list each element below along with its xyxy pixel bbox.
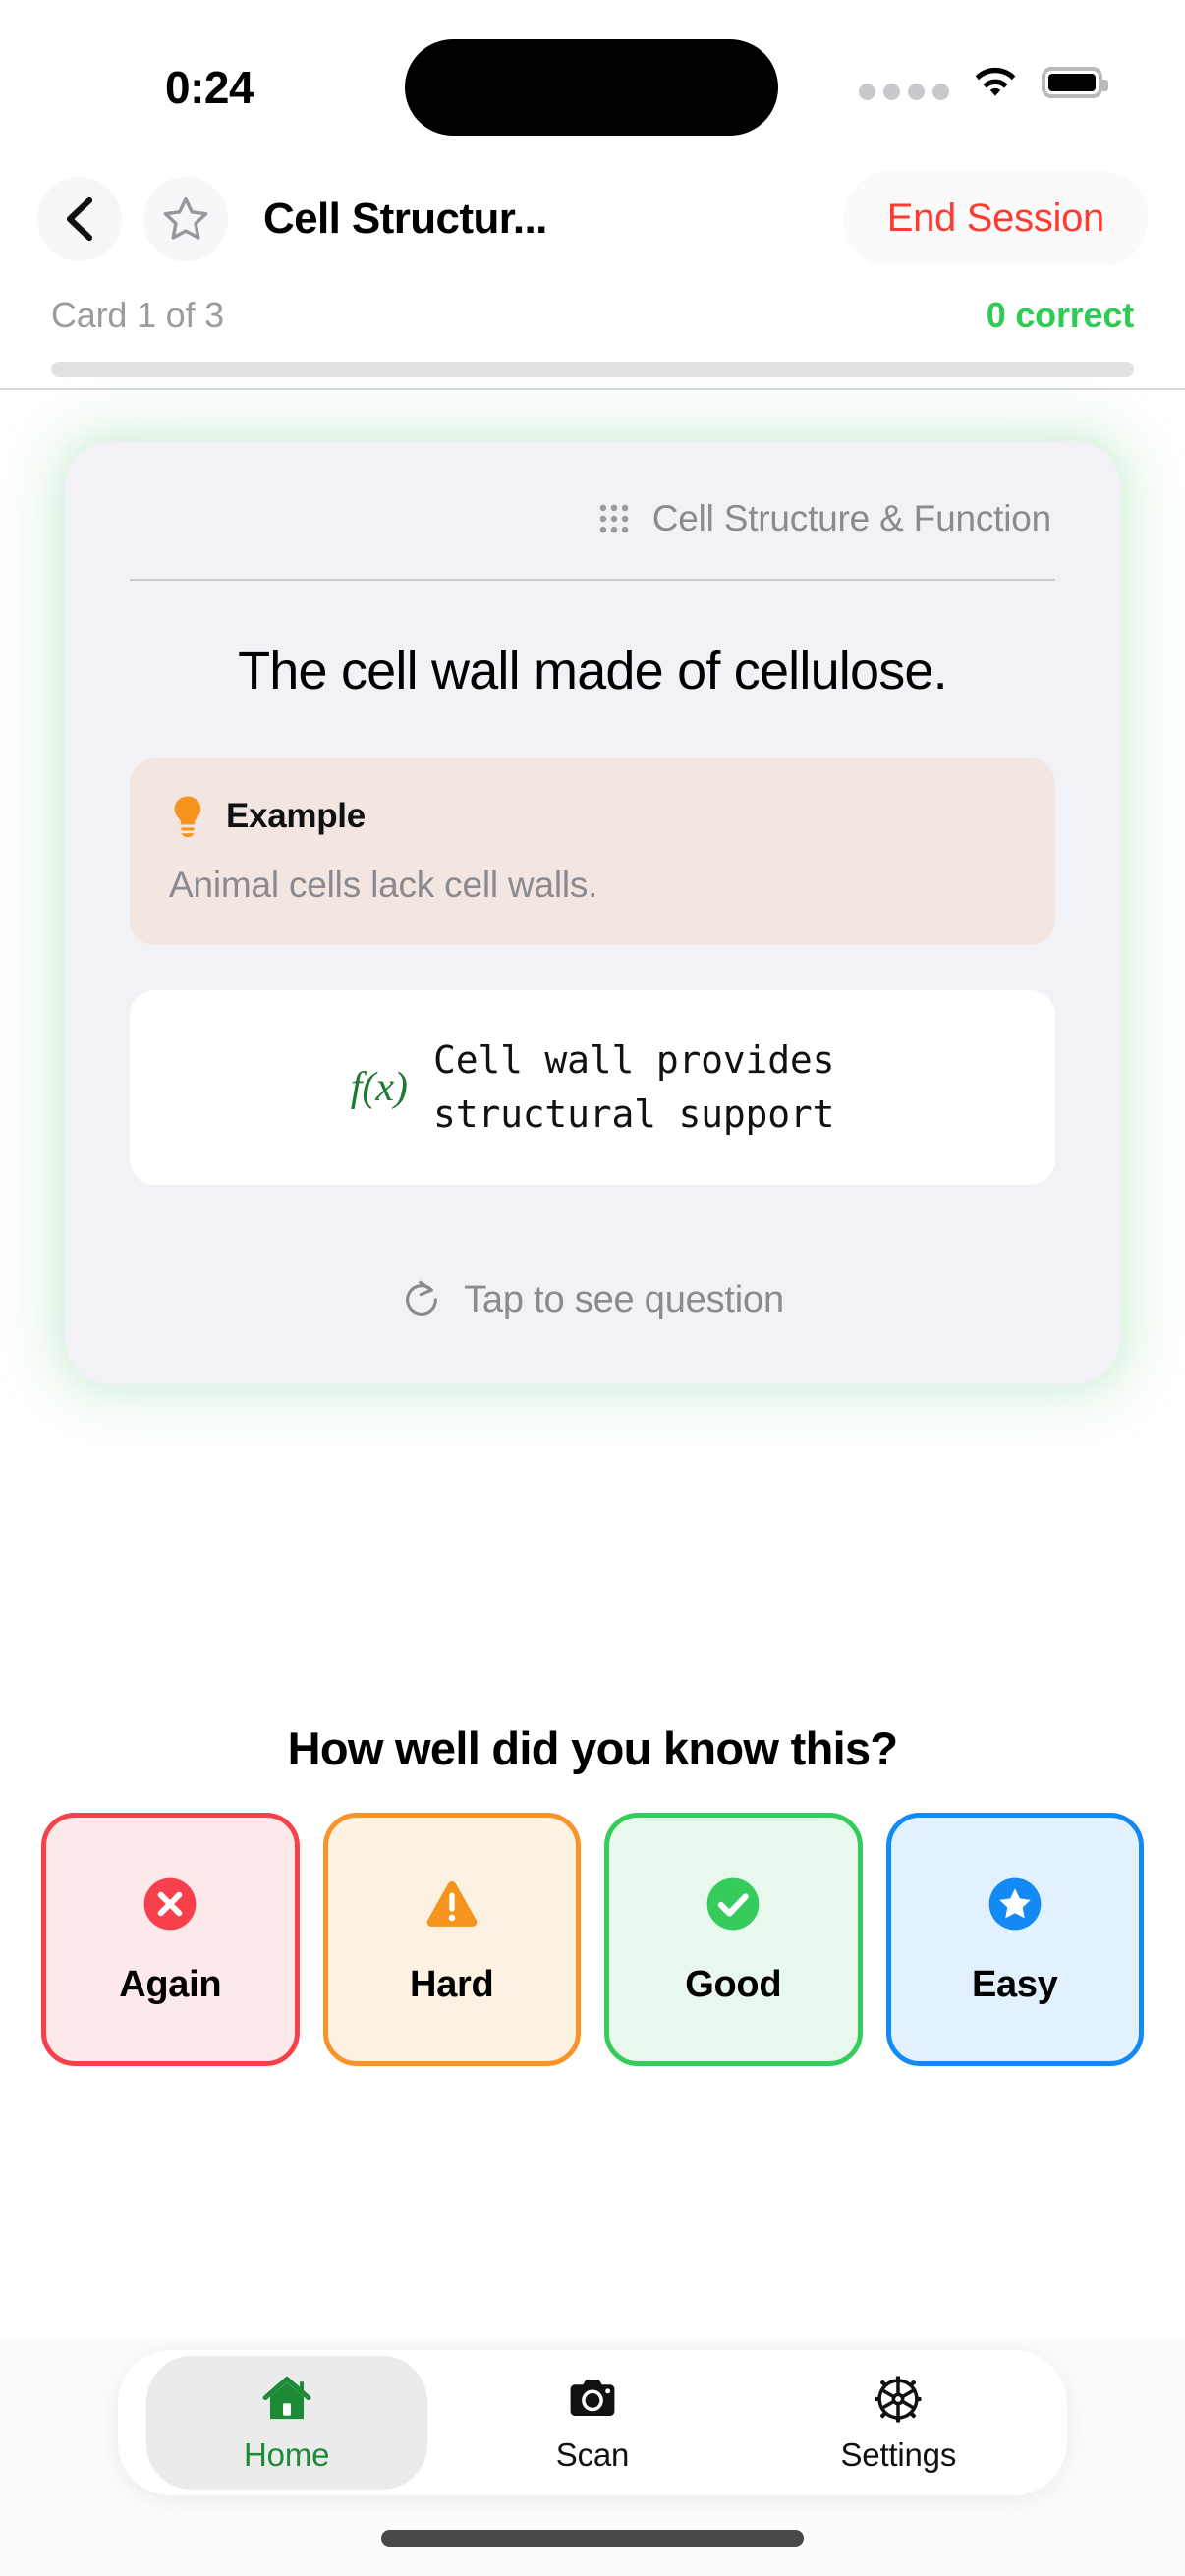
rating-button-again[interactable]: Again <box>41 1813 300 2066</box>
rating-button-easy[interactable]: Easy <box>886 1813 1145 2066</box>
favorite-button[interactable] <box>143 177 228 261</box>
formula-box: f(x) Cell wall provides structural suppo… <box>130 990 1055 1185</box>
x-circle-icon <box>140 1874 200 1934</box>
camera-icon <box>565 2372 620 2427</box>
page-title: Cell Structur... <box>263 195 822 244</box>
status-time: 0:24 <box>165 61 254 114</box>
rating-label-hard: Hard <box>410 1964 493 2006</box>
progress-labels: Card 1 of 3 0 correct <box>51 285 1134 336</box>
content-area: Cell Structure & Function The cell wall … <box>0 390 1185 2340</box>
example-box: Example Animal cells lack cell walls. <box>130 758 1055 945</box>
battery-icon <box>1042 67 1102 98</box>
example-title: Example <box>226 797 366 836</box>
rotate-ccw-icon <box>401 1279 442 1320</box>
wifi-icon <box>973 65 1018 100</box>
card-topic-row: Cell Structure & Function <box>130 498 1055 539</box>
rating-button-hard[interactable]: Hard <box>323 1813 582 2066</box>
star-circle-icon <box>985 1874 1045 1934</box>
rating-label-easy: Easy <box>972 1964 1058 2006</box>
grid-dots-icon <box>595 500 633 537</box>
tab-label-home: Home <box>244 2436 329 2474</box>
status-bar: 0:24 <box>0 0 1185 152</box>
rating-label-again: Again <box>119 1964 221 2006</box>
formula-label: f(x) <box>351 1064 408 1111</box>
tab-settings[interactable]: Settings <box>758 2356 1039 2490</box>
home-indicator <box>381 2530 804 2547</box>
tap-hint[interactable]: Tap to see question <box>130 1279 1055 1321</box>
signal-dots-icon <box>859 65 949 100</box>
tab-home[interactable]: Home <box>146 2356 427 2490</box>
dynamic-island <box>405 39 778 136</box>
rating-prompt: How well did you know this? <box>0 1721 1185 1775</box>
end-session-button[interactable]: End Session <box>844 171 1148 266</box>
gear-icon <box>871 2372 926 2427</box>
card-counter: Card 1 of 3 <box>51 295 224 336</box>
card-answer-text: The cell wall made of cellulose. <box>130 640 1055 703</box>
tab-label-settings: Settings <box>840 2436 956 2474</box>
status-indicators <box>859 65 1102 100</box>
home-icon <box>259 2372 314 2427</box>
warning-triangle-icon <box>422 1874 482 1934</box>
flashcard[interactable]: Cell Structure & Function The cell wall … <box>65 441 1120 1384</box>
lightbulb-icon <box>169 794 206 839</box>
correct-counter: 0 correct <box>987 295 1134 336</box>
example-text: Animal cells lack cell walls. <box>169 865 1016 906</box>
phone-screen: 0:24 Cell Structur... End Sess <box>0 0 1185 2576</box>
example-header: Example <box>169 794 1016 839</box>
check-circle-icon <box>703 1874 763 1934</box>
tab-scan[interactable]: Scan <box>452 2356 733 2490</box>
card-divider <box>130 579 1055 581</box>
tab-label-scan: Scan <box>556 2436 629 2474</box>
back-button[interactable] <box>37 177 122 261</box>
rating-buttons: Again Hard Good <box>41 1813 1144 2066</box>
progress-bar <box>51 362 1134 377</box>
chevron-left-icon <box>63 196 96 242</box>
nav-header: Cell Structur... End Session <box>0 152 1185 285</box>
star-outline-icon <box>160 194 211 245</box>
card-topic-label: Cell Structure & Function <box>652 498 1051 539</box>
rating-button-good[interactable]: Good <box>604 1813 863 2066</box>
tap-hint-label: Tap to see question <box>464 1279 784 1321</box>
formula-text: Cell wall provides structural support <box>433 1034 834 1142</box>
bottom-tabbar: Home Scan <box>118 2350 1067 2495</box>
tabbar-area: Home Scan <box>0 2340 1185 2576</box>
rating-label-good: Good <box>685 1964 781 2006</box>
progress-section: Card 1 of 3 0 correct <box>0 285 1185 388</box>
